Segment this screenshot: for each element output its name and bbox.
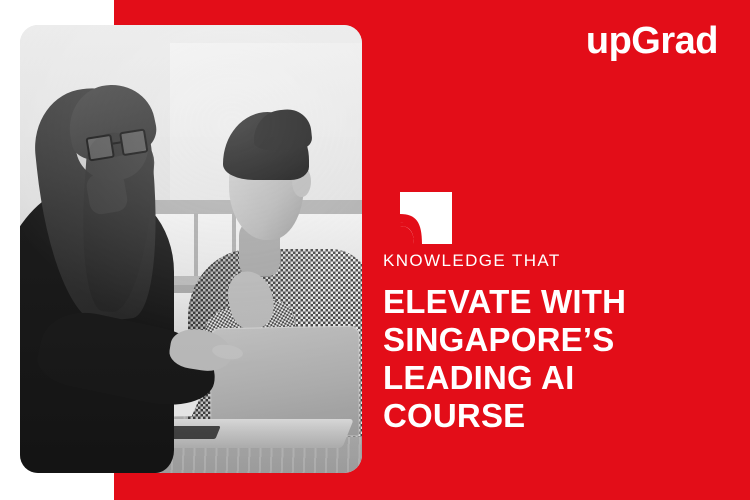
headline-line-4: COURSE (383, 397, 733, 435)
upgrad-logo: upGrad (586, 22, 718, 60)
photo-glasses-bridge (112, 141, 121, 145)
hero-photo-card (20, 25, 362, 473)
photo-glasses-left-lens (85, 134, 115, 162)
eyebrow-text: KNOWLEDGE THAT (383, 252, 733, 271)
upward-arrow-icon (400, 192, 452, 244)
headline-line-3: LEADING AI (383, 359, 733, 397)
hero-photo-image (20, 25, 362, 473)
page-title: ELEVATE WITH SINGAPORE’S LEADING AI COUR… (383, 283, 733, 436)
headline-text-block: KNOWLEDGE THAT ELEVATE WITH SINGAPORE’S … (383, 252, 733, 436)
headline-line-2: SINGAPORE’S (383, 321, 733, 359)
banner-canvas: upGrad KNOWLEDGE THAT ELEVATE WITH SINGA… (0, 0, 750, 500)
headline-line-1: ELEVATE WITH (383, 283, 733, 321)
photo-glasses-right-lens (118, 129, 148, 157)
